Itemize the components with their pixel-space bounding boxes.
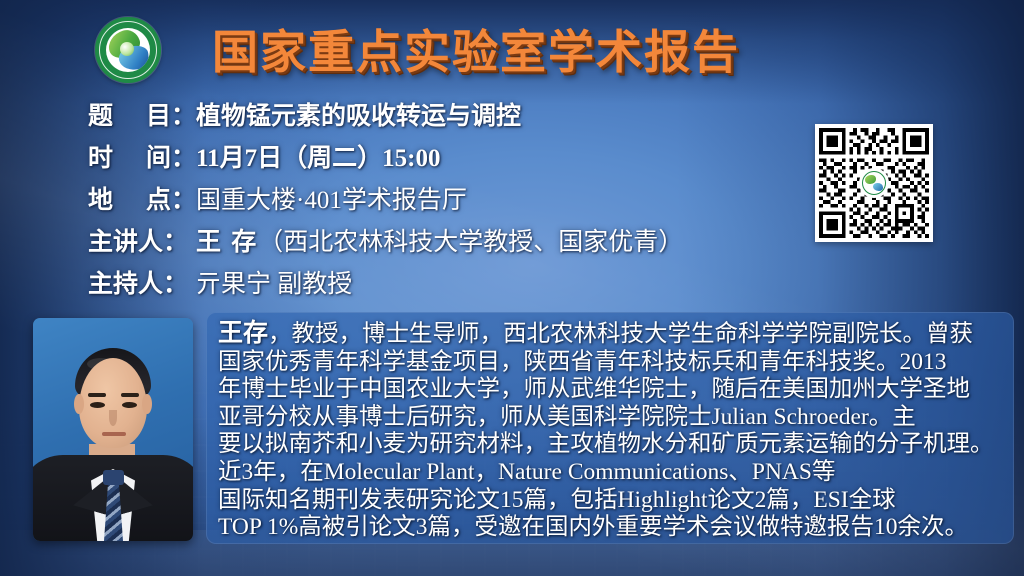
bio-line: TOP 1%高被引论文3篇，受邀在国内外重要学术会议做特邀报告10余次。 [218, 514, 1008, 542]
detail-label-topic: 题目： [88, 96, 196, 132]
poster-header: 国家重点实验室学术报告 [0, 0, 1024, 98]
seminar-poster: 国家重点实验室学术报告 题目： 植物锰元素的吸收转运与调控 时间： 11月7日（… [0, 0, 1024, 576]
detail-label-speaker: 主讲人： [88, 222, 196, 258]
detail-value-location: 国重大楼·401学术报告厅 [196, 180, 467, 216]
detail-label-host: 主持人： [88, 264, 196, 300]
detail-row-topic: 题目： 植物锰元素的吸收转运与调控 [88, 96, 788, 138]
bio-line: 亚哥分校从事博士后研究，师从美国科学院院士Julian Schroeder。主 [218, 404, 1008, 432]
bio-line: 王存，教授，博士生导师，西北农林科技大学生命科学学院副院长。曾获 [218, 320, 1008, 349]
detail-value-host: 亓果宁 副教授 [196, 264, 352, 300]
bio-line: 年博士毕业于中国农业大学，师从武维华院士，随后在美国加州大学圣地 [218, 376, 1008, 404]
detail-label-location: 地点： [88, 180, 196, 216]
speaker-biography: 王存，教授，博士生导师，西北农林科技大学生命科学学院副院长。曾获 国家优秀青年科… [206, 312, 1014, 544]
bio-line: 国家优秀青年科学基金项目，陕西省青年科技标兵和青年科技奖。2013 [218, 349, 1008, 377]
detail-label-time: 时间： [88, 138, 196, 174]
event-details-list: 题目： 植物锰元素的吸收转运与调控 时间： 11月7日（周二）15:00 地点：… [88, 96, 788, 306]
state-key-laboratory-logo-icon [95, 17, 161, 83]
detail-value-time: 11月7日（周二）15:00 [196, 138, 440, 174]
speaker-affiliation: （西北农林科技大学教授、国家优青） [258, 229, 683, 256]
detail-row-host: 主持人： 亓果宁 副教授 [88, 264, 788, 306]
bio-line: 国际知名期刊发表研究论文15篇，包括Highlight论文2篇，ESI全球 [218, 487, 1008, 515]
qr-center-logo-icon [861, 170, 887, 196]
detail-value-topic: 植物锰元素的吸收转运与调控 [196, 96, 521, 132]
page-title: 国家重点实验室学术报告 [212, 16, 740, 82]
qr-code[interactable] [815, 124, 933, 242]
detail-row-time: 时间： 11月7日（周二）15:00 [88, 138, 788, 180]
detail-row-location: 地点： 国重大楼·401学术报告厅 [88, 180, 788, 222]
bio-line: 近3年，在Molecular Plant，Nature Communicatio… [218, 459, 1008, 487]
bio-line-text: ，教授，博士生导师，西北农林科技大学生命科学学院副院长。曾获 [268, 321, 973, 347]
detail-value-speaker: 王 存（西北农林科技大学教授、国家优青） [196, 222, 683, 258]
bio-line: 要以拟南芥和小麦为研究材料，主攻植物水分和矿质元素运输的分子机理。 [218, 431, 1008, 459]
speaker-photo [33, 318, 193, 541]
detail-row-speaker: 主讲人： 王 存（西北农林科技大学教授、国家优青） [88, 222, 788, 264]
speaker-name: 王 存 [196, 229, 258, 256]
bio-speaker-name: 王存 [218, 320, 268, 347]
